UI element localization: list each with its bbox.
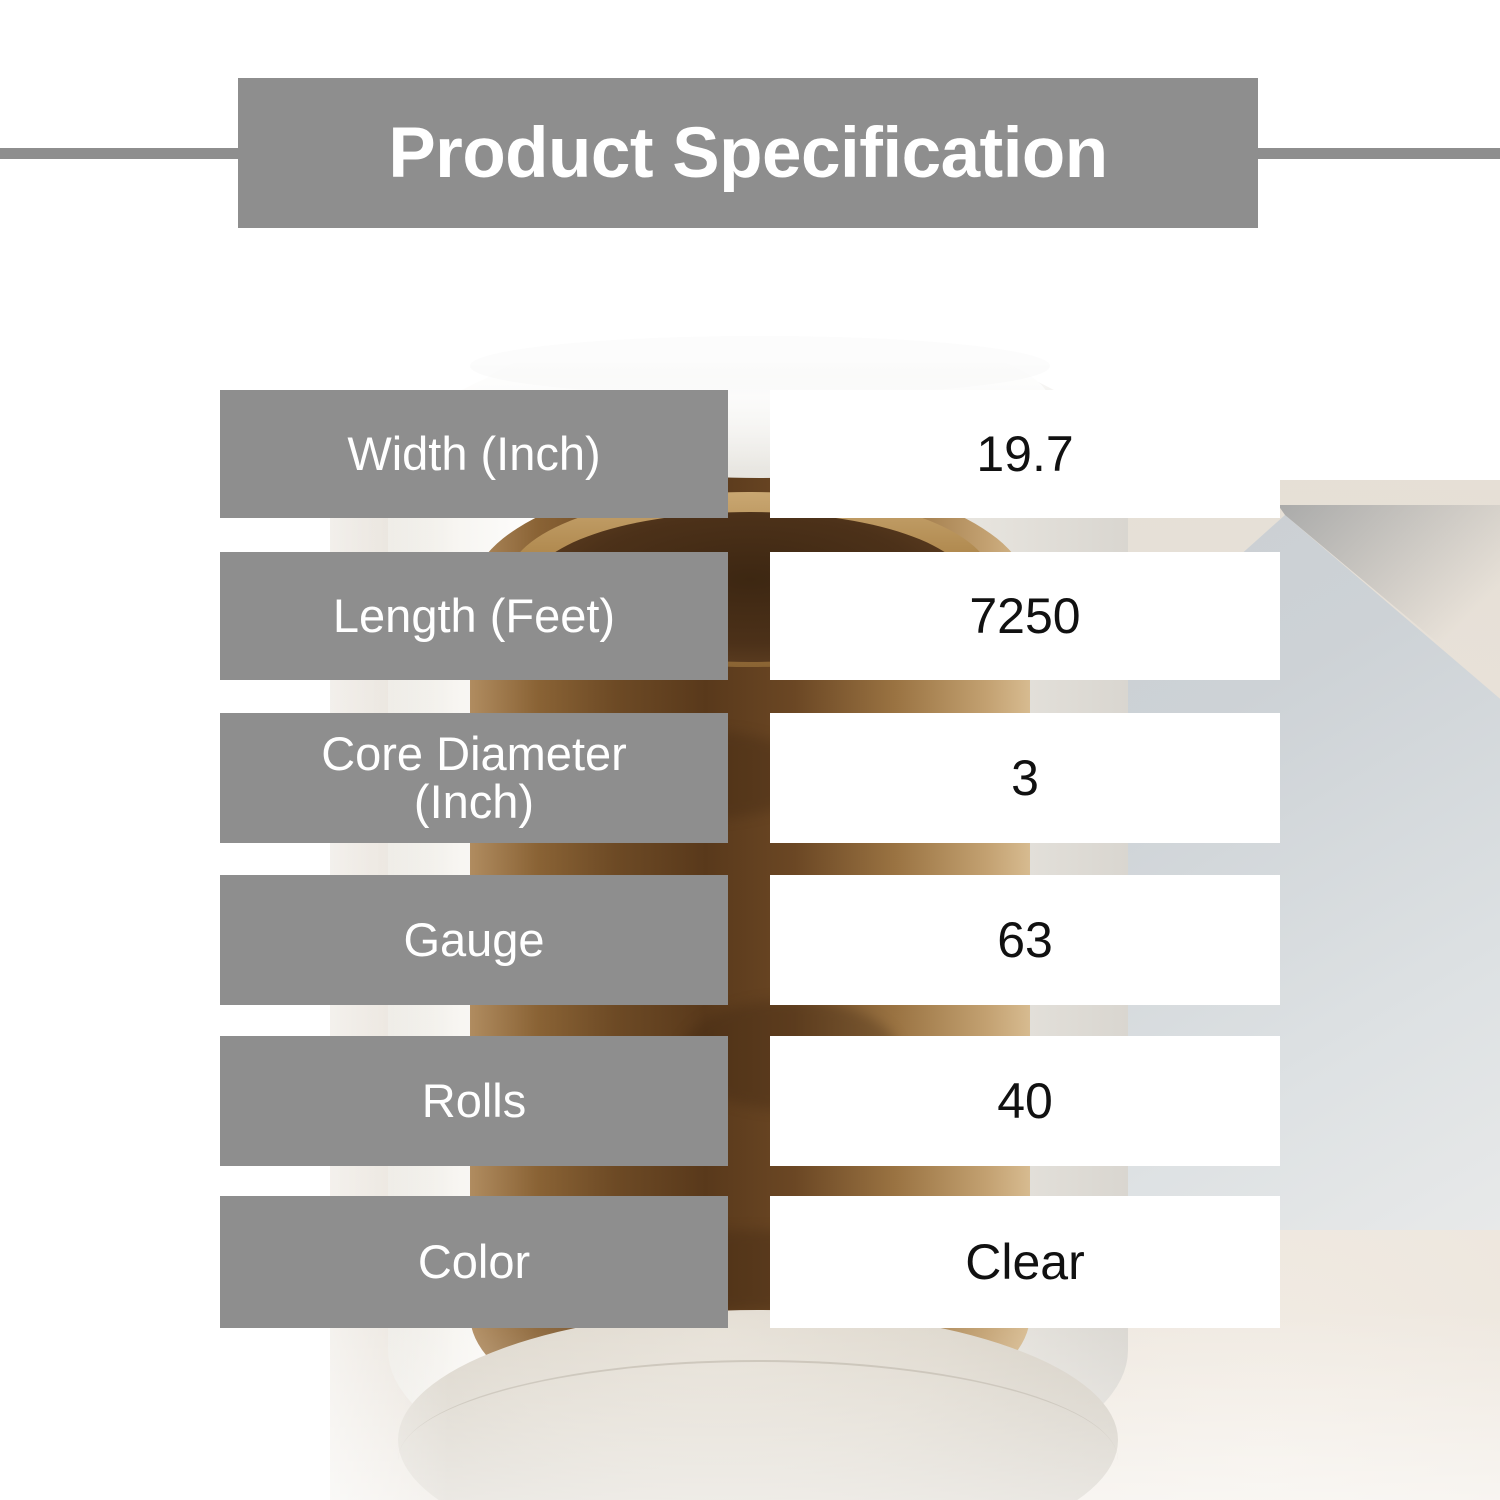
spec-value: 7250 — [969, 591, 1080, 641]
spec-label-cell: Color — [220, 1196, 728, 1328]
spec-label: Color — [408, 1238, 540, 1286]
spec-value-cell: Clear — [770, 1196, 1280, 1328]
spec-value: 19.7 — [976, 429, 1073, 479]
spec-value-cell: 19.7 — [770, 390, 1280, 518]
spec-value: Clear — [965, 1237, 1084, 1287]
product-specification-page: Product Specification Width (Inch) 19.7 … — [0, 0, 1500, 1500]
spec-label-cell: Rolls — [220, 1036, 728, 1166]
spec-label: Gauge — [393, 916, 554, 964]
spec-value-cell: 63 — [770, 875, 1280, 1005]
spec-label-cell: Core Diameter (Inch) — [220, 713, 728, 843]
spec-label-cell: Length (Feet) — [220, 552, 728, 680]
specification-table: Width (Inch) 19.7 Length (Feet) 7250 Cor… — [0, 0, 1500, 1500]
spec-label-cell: Width (Inch) — [220, 390, 728, 518]
spec-value: 63 — [997, 915, 1053, 965]
spec-label-cell: Gauge — [220, 875, 728, 1005]
spec-label: Core Diameter (Inch) — [311, 730, 637, 826]
spec-value: 3 — [1011, 753, 1039, 803]
spec-value-cell: 40 — [770, 1036, 1280, 1166]
spec-label: Rolls — [412, 1077, 536, 1125]
spec-label: Length (Feet) — [323, 592, 625, 640]
spec-value-cell: 3 — [770, 713, 1280, 843]
spec-label: Width (Inch) — [337, 430, 610, 478]
spec-value: 40 — [997, 1076, 1053, 1126]
spec-value-cell: 7250 — [770, 552, 1280, 680]
